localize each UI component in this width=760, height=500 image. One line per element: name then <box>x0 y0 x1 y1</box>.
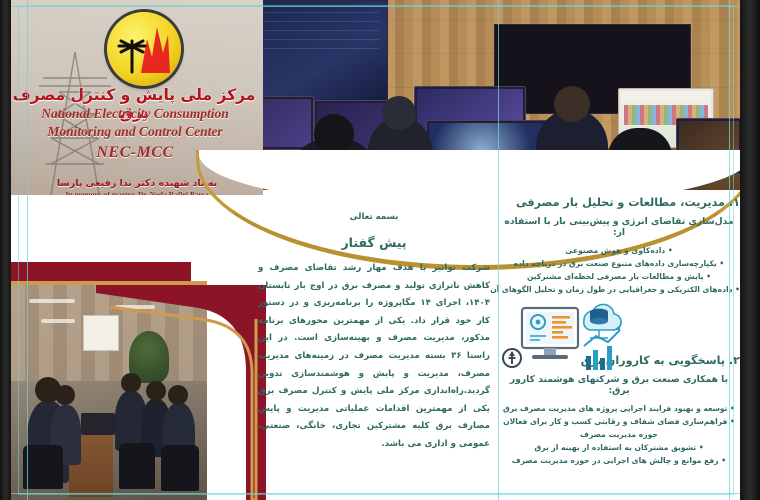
print-guide-line <box>0 493 760 494</box>
cloud-database-icon <box>584 304 621 338</box>
left-edge-strip <box>0 0 11 500</box>
list-item: رفع موانع و چالش های اجرایی در حوزه مدیر… <box>498 454 740 467</box>
section-2-bullets: توسعه و بهبود فرایند اجرایی پروژه های مد… <box>498 402 740 467</box>
section-1: ۱. مدیریت، مطالعات و تحلیل بار مصرفی مدل… <box>498 196 740 296</box>
office-person-head <box>121 373 141 393</box>
section-2-number: ۲. <box>729 354 740 367</box>
laptop <box>81 413 115 435</box>
ceiling-light <box>115 305 155 309</box>
section-1-title-text: مدیریت، مطالعات و تحلیل بار مصرفی <box>516 196 725 209</box>
ceiling-light <box>29 299 75 303</box>
data-analytics-illustration <box>500 300 628 376</box>
bar-chart-icon <box>584 325 620 370</box>
maroon-divider-band <box>11 262 191 281</box>
list-item: داده‌کاوی و هوش مصنوعی <box>498 244 740 257</box>
memorial-text-en: In memory of martyr, Dr. Neda Rafiei Par… <box>21 190 253 195</box>
section-1-bullets: داده‌کاوی و هوش مصنوعی یکپارچه‌سازی داده… <box>498 244 740 296</box>
list-item: فراهم‌سازی فضای شفاف و رقابتی کسب و کار … <box>498 415 740 441</box>
office-chair <box>161 445 199 491</box>
section-1-subtitle: مدل‌سازی تقاضای انرژی و پیش‌بینی بار با … <box>498 216 740 238</box>
section-1-title: ۱. مدیریت، مطالعات و تحلیل بار مصرفی <box>498 196 740 209</box>
nec-mcc-logo <box>107 12 181 86</box>
right-edge-strip <box>740 0 760 500</box>
office-person-head <box>55 385 75 405</box>
list-item: تشویق مشترکان به استفاده از بهینه از برق <box>498 441 740 454</box>
preface-body: شرکت توانیر با هدف مهار رشد تقاضای مصرف … <box>258 260 490 454</box>
ceiling-light <box>41 319 75 323</box>
list-item: توسعه و بهبود فرایند اجرایی پروژه های مد… <box>498 402 740 415</box>
whiteboard <box>83 315 119 351</box>
monitor-with-charts-icon <box>522 308 578 359</box>
section-2-subtitle: با همکاری صنعت برق و شرکتهای هوشمند کارو… <box>498 374 740 396</box>
office-chair <box>119 443 155 489</box>
brand-title-en-line2: Monitoring and Control Center <box>11 124 259 140</box>
office-workstations-photo <box>11 285 207 500</box>
office-person-head <box>168 385 188 405</box>
poster-page: مرکز ملی پایش و کنترل مصرف برق National … <box>0 0 760 500</box>
print-guide-line <box>498 0 499 500</box>
office-person-head <box>146 381 166 401</box>
list-item: پایش و مطالعات بار مصرفی لحظه‌ای مشترکین <box>498 270 740 283</box>
preface-heading: پیش گفتار <box>258 235 490 250</box>
memorial-text-fa: به یاد شهیده دکتر ندا رفیعی پارسا <box>21 178 253 189</box>
pylon-glyph-icon <box>115 38 149 74</box>
section-1-number: ۱. <box>729 196 740 209</box>
power-plug-icon <box>503 349 521 367</box>
basmala-text: بسمه تعالی <box>258 212 490 222</box>
list-item: داده‌های الکتریکی و جغرافیایی در طول زما… <box>498 283 740 296</box>
list-item: یکپارچه‌سازی داده‌های متنوع صنعت برق در … <box>498 257 740 270</box>
print-guide-line <box>0 6 760 7</box>
print-guide-line <box>729 0 730 500</box>
brand-title-en-line1: National Electricity Consumption <box>11 106 259 122</box>
preface-column: بسمه تعالی پیش گفتار شرکت توانیر با هدف … <box>258 212 490 494</box>
print-guide-line <box>27 0 28 500</box>
office-chair <box>23 445 63 489</box>
